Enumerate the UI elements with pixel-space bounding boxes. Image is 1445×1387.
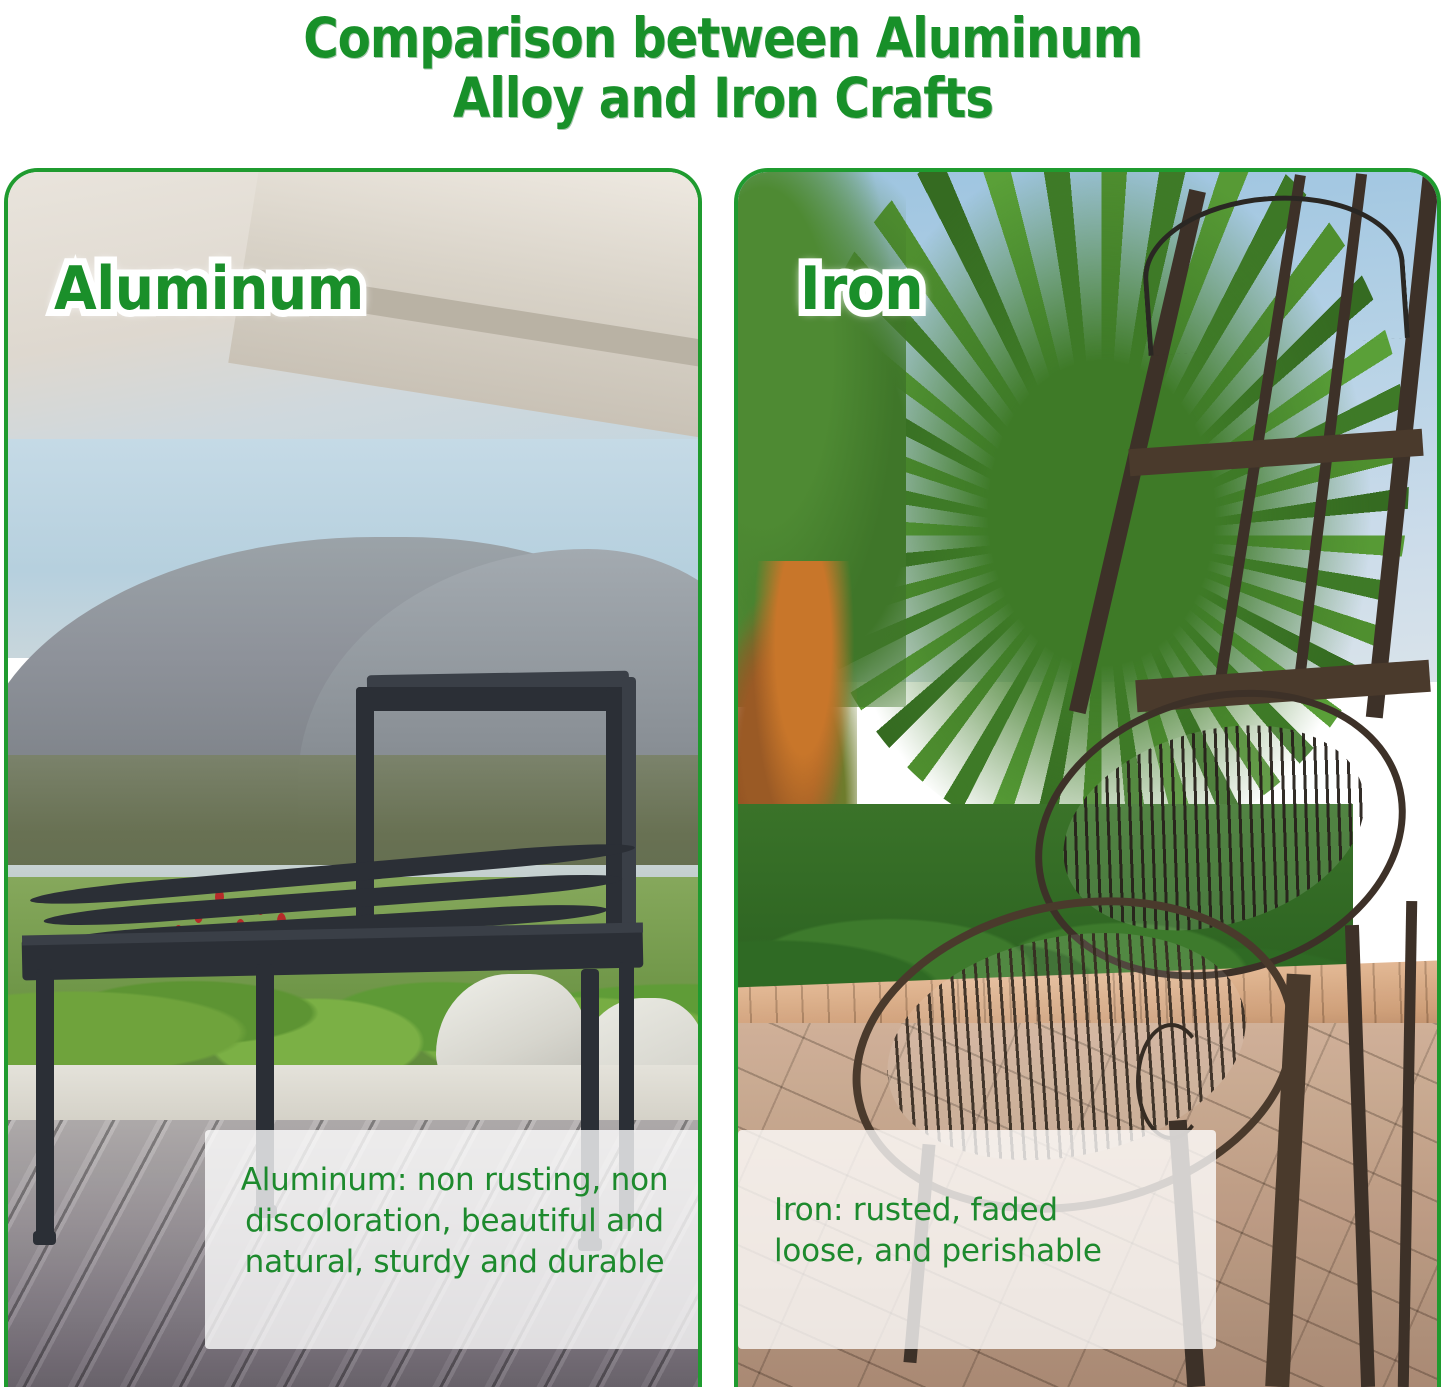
caption-line: Iron: rusted, faded bbox=[774, 1190, 1204, 1231]
caption-iron: Iron: rusted, faded loose, and perishabl… bbox=[738, 1130, 1216, 1349]
caption-line: natural, sturdy and durable bbox=[217, 1242, 692, 1283]
panel-iron: Iron Iron: rusted, faded loose, and peri… bbox=[734, 168, 1441, 1387]
page-title: Comparison between Aluminum Alloy and Ir… bbox=[0, 0, 1445, 148]
page-title-line-2: Alloy and Iron Crafts bbox=[452, 68, 992, 128]
panel-aluminum: Aluminum Aluminum: non rusting, non disc… bbox=[4, 168, 702, 1387]
page-title-line-1: Comparison between Aluminum bbox=[303, 8, 1142, 68]
caption-line: loose, and perishable bbox=[774, 1231, 1204, 1272]
panel-label-iron: Iron bbox=[800, 254, 923, 324]
caption-line: discoloration, beautiful and bbox=[217, 1201, 692, 1242]
iron-scroll-detail bbox=[1136, 1023, 1207, 1140]
caption-aluminum: Aluminum: non rusting, non discoloration… bbox=[205, 1130, 702, 1349]
comparison-panels: Aluminum Aluminum: non rusting, non disc… bbox=[0, 168, 1445, 1387]
panel-label-aluminum: Aluminum bbox=[54, 254, 364, 324]
caption-line: Aluminum: non rusting, non bbox=[217, 1160, 692, 1201]
